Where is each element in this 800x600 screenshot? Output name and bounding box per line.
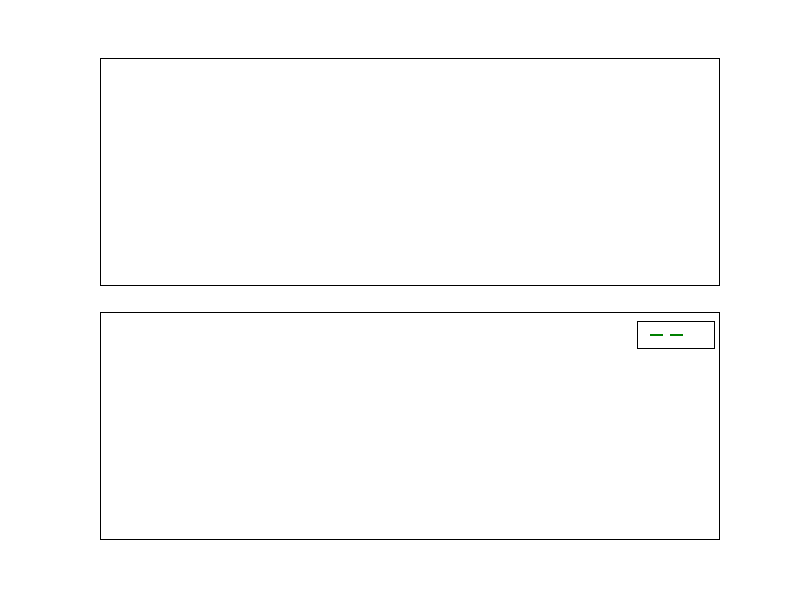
matplotlib-figure [0,0,800,600]
bottom-panel-axes [100,312,720,540]
histogram-plot-area [101,59,719,285]
cumulative-plot-area [101,313,719,539]
top-panel-axes [100,58,720,286]
dashed-line-icon [648,328,690,342]
legend[interactable] [637,321,715,349]
